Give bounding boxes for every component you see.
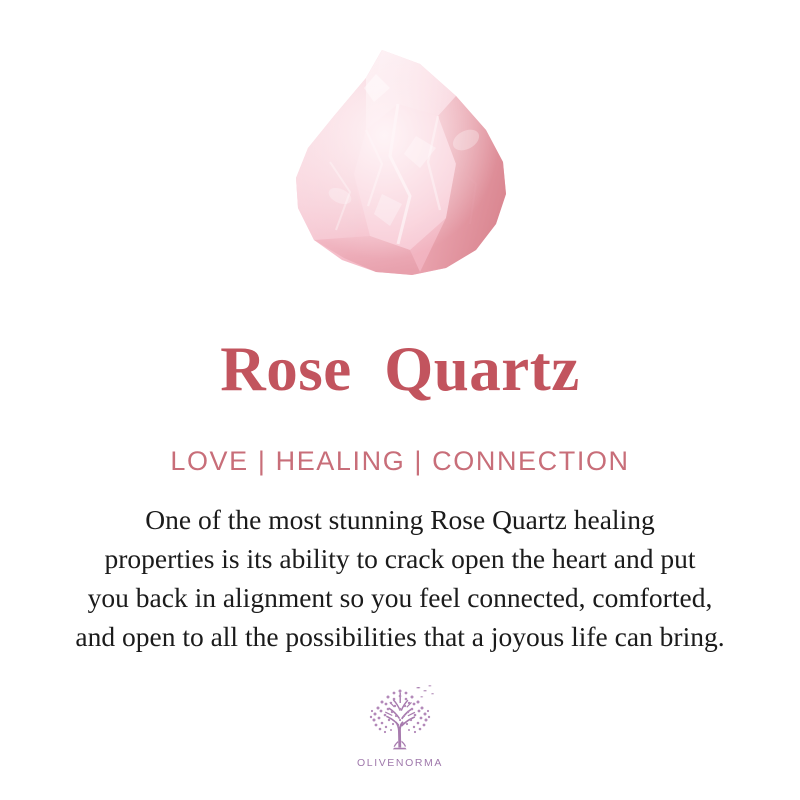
description-line: properties is its ability to crack open … — [30, 539, 770, 578]
product-title: Rose Quartz — [0, 333, 800, 405]
tree-of-life-icon — [361, 683, 439, 755]
brand-name: OLIVENORMA — [357, 757, 443, 769]
rose-quartz-crystal-image — [0, 44, 800, 289]
description-line: One of the most stunning Rose Quartz hea… — [30, 500, 770, 539]
product-description: One of the most stunning Rose Quartz hea… — [30, 500, 770, 656]
description-line: you back in alignment so you feel connec… — [30, 578, 770, 617]
description-line: and open to all the possibilities that a… — [30, 617, 770, 656]
brand-logo: OLIVENORMA — [0, 683, 800, 769]
product-card: Rose Quartz LOVE | HEALING | CONNECTION … — [0, 0, 800, 800]
rose-quartz-crystal-icon — [270, 44, 530, 284]
product-keywords: LOVE | HEALING | CONNECTION — [0, 444, 800, 478]
